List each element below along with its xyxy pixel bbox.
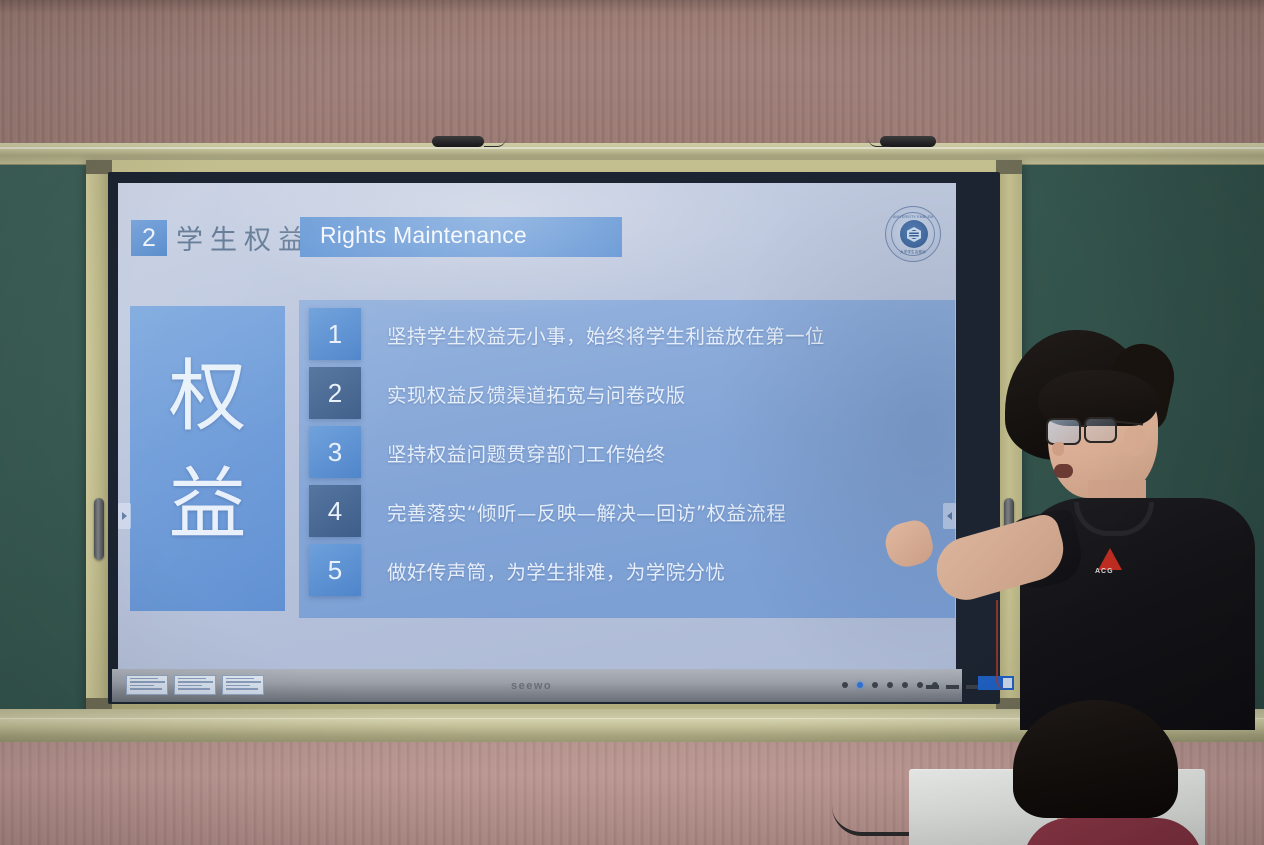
hdmi-port-icon[interactable] xyxy=(946,685,959,689)
presenter-nose xyxy=(1052,442,1064,456)
bezel-sticker xyxy=(126,675,168,695)
seal-text-top: UNIVERSITY EMBLEM xyxy=(886,215,940,219)
seal-text-bottom: 大学学生会徽标 xyxy=(886,249,940,254)
glasses-bridge xyxy=(1079,425,1087,427)
tshirt-logo-text: ACG xyxy=(1095,568,1114,575)
volume-up-button[interactable] xyxy=(902,682,908,688)
seated-student-shirt xyxy=(1023,818,1203,845)
wood-wall-panel-top xyxy=(0,0,1264,152)
list-item: 5 做好传声筒，为学生排难，为学院分忧 xyxy=(309,544,956,596)
slide-title-cn: 学生权益 xyxy=(176,218,312,257)
list-item-number: 4 xyxy=(309,485,361,537)
bezel-sticker xyxy=(174,675,216,695)
glasses-right-lens-icon xyxy=(1084,417,1117,443)
seated-student-hair xyxy=(1013,700,1178,818)
board-handle-left[interactable] xyxy=(94,498,104,560)
bezel-sticker xyxy=(222,675,264,695)
volume-down-button[interactable] xyxy=(887,682,893,688)
list-item-text: 做好传声筒，为学生排难，为学院分忧 xyxy=(387,556,725,585)
section-number-badge: 2 xyxy=(131,220,167,256)
presenter: ACG xyxy=(960,330,1260,730)
list-item-number: 3 xyxy=(309,426,361,478)
list-item: 3 坚持权益问题贯穿部门工作始终 xyxy=(309,426,956,478)
list-item-number: 2 xyxy=(309,367,361,419)
keyword-char-2: 益 xyxy=(130,466,285,544)
slide-title-en: Rights Maintenance xyxy=(320,222,527,249)
slide-header: 2 学生权益 Rights Maintenance xyxy=(118,213,956,265)
chevron-right-icon xyxy=(122,512,127,520)
list-item-number: 1 xyxy=(309,308,361,360)
source-button[interactable] xyxy=(917,682,923,688)
screen-right-tab-icon[interactable] xyxy=(943,503,956,529)
display-brand-label: seewo xyxy=(511,680,552,692)
list-item: 2 实现权益反馈渠道拓宽与问卷改版 xyxy=(309,367,956,419)
interactive-display-screen[interactable]: 2 学生权益 Rights Maintenance UNIVERSITY EMB… xyxy=(118,183,956,669)
microphone-icon xyxy=(432,136,484,147)
menu-button[interactable] xyxy=(872,682,878,688)
board-rail-top-highlight xyxy=(0,147,1264,149)
presenter-mouth xyxy=(1054,464,1073,478)
power-button[interactable] xyxy=(842,682,848,688)
list-item: 4 完善落实“倾听—反映—解决—回访”权益流程 xyxy=(309,485,956,537)
list-item-text: 坚持权益问题贯穿部门工作始终 xyxy=(387,438,666,467)
seated-student xyxy=(1005,700,1205,845)
list-item-number: 5 xyxy=(309,544,361,596)
list-item: 1 坚持学生权益无小事，始终将学生利益放在第一位 xyxy=(309,308,956,360)
usb-port-icon[interactable] xyxy=(926,685,939,689)
side-panel-keyword: 权 益 xyxy=(130,306,285,611)
frame-corner-block xyxy=(996,160,1022,174)
university-seal-icon: UNIVERSITY EMBLEM 大学学生会徽标 xyxy=(885,206,941,262)
keyword-char-1: 权 xyxy=(130,358,285,436)
presenter-ear xyxy=(1124,426,1146,456)
list-item-text: 完善落实“倾听—反映—解决—回访”权益流程 xyxy=(387,497,786,526)
display-bottom-bezel: seewo xyxy=(112,669,962,702)
bezel-control-buttons[interactable] xyxy=(842,682,938,688)
status-led xyxy=(857,682,863,688)
microphone-wire xyxy=(868,138,890,147)
classroom-scene: 2 学生权益 Rights Maintenance UNIVERSITY EMB… xyxy=(0,0,1264,845)
screen-left-tab-icon[interactable] xyxy=(118,503,131,529)
list-item-text: 实现权益反馈渠道拓宽与问卷改版 xyxy=(387,379,686,408)
chevron-left-icon xyxy=(947,512,952,520)
list-item-text: 坚持学生权益无小事，始终将学生利益放在第一位 xyxy=(387,320,825,349)
glasses-left-lens-icon xyxy=(1046,418,1081,445)
